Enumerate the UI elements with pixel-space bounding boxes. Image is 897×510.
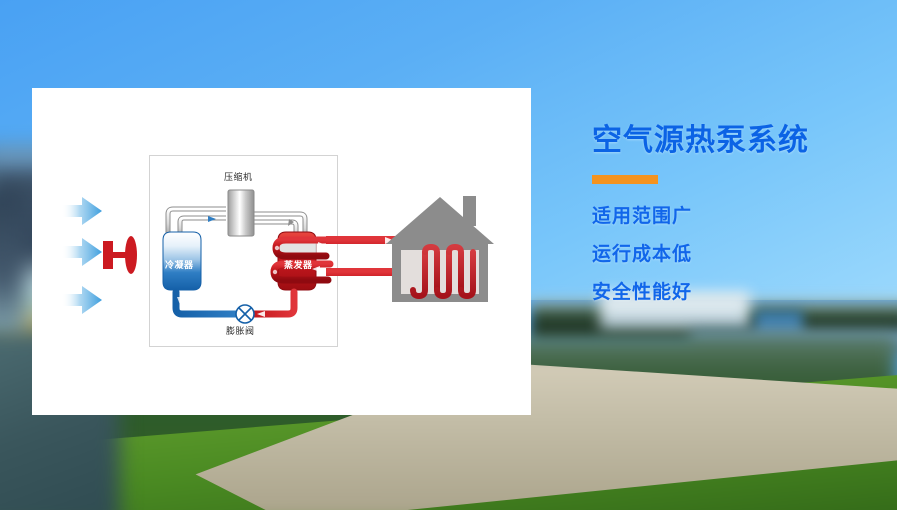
city-skyline-blur-2 bbox=[0, 190, 25, 340]
label-evaporator: 蒸发器 bbox=[284, 258, 313, 271]
label-condenser: 冷凝器 bbox=[165, 258, 194, 271]
feature-list: 适用范围广 运行成本低 安全性能好 bbox=[592, 207, 892, 302]
list-item: 适用范围广 bbox=[592, 207, 892, 226]
page-title: 空气源热泵系统 bbox=[592, 124, 892, 159]
schematic-frame bbox=[149, 155, 338, 347]
headline-block: 空气源热泵系统 适用范围广 运行成本低 安全性能好 bbox=[592, 124, 892, 321]
title-underline-rule bbox=[592, 175, 658, 184]
label-compressor: 压缩机 bbox=[224, 170, 253, 183]
list-item: 运行成本低 bbox=[592, 245, 892, 264]
list-item: 安全性能好 bbox=[592, 283, 892, 302]
label-expansion-valve: 膨胀阀 bbox=[226, 324, 255, 337]
